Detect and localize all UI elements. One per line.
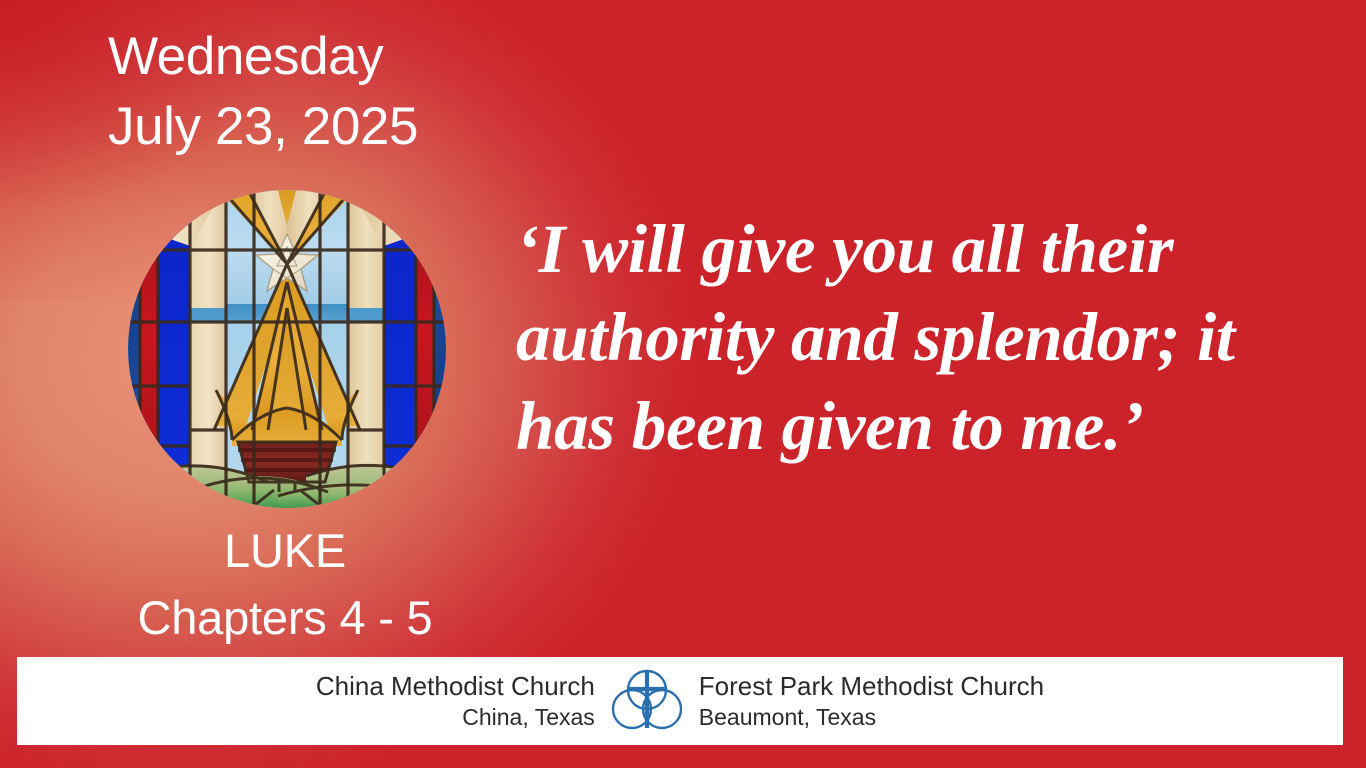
church-right: Forest Park Methodist Church Beaumont, T… (684, 670, 1044, 733)
church-left-name: China Methodist Church (316, 670, 595, 703)
scripture-quote: ‘I will give you all their authority and… (516, 205, 1346, 470)
reading-reference: LUKE Chapters 4 - 5 (0, 518, 570, 651)
reading-chapters: Chapters 4 - 5 (0, 585, 570, 652)
date-weekday: Wednesday (108, 22, 418, 92)
reading-book: LUKE (0, 518, 570, 585)
date-full: July 23, 2025 (108, 92, 418, 162)
church-left-location: China, Texas (316, 703, 595, 732)
slide-canvas: Wednesday July 23, 2025 (0, 0, 1366, 768)
church-left: China Methodist Church China, Texas (316, 670, 610, 733)
date-block: Wednesday July 23, 2025 (108, 22, 418, 163)
trinity-cross-logo-icon (610, 664, 684, 738)
church-right-location: Beaumont, Texas (699, 703, 1044, 732)
church-banner: China Methodist Church China, Texas Fore… (17, 657, 1343, 745)
stained-glass-image (128, 190, 446, 508)
church-right-name: Forest Park Methodist Church (699, 670, 1044, 703)
